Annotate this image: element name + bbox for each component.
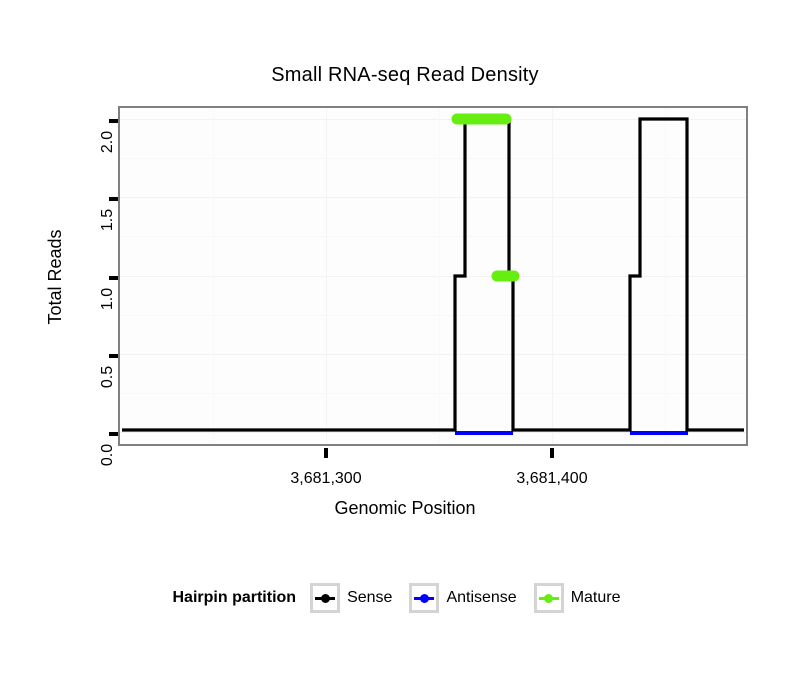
chart-title: Small RNA-seq Read Density [0,64,810,87]
plot-panel [118,106,748,446]
legend-point-icon [321,594,330,603]
x-tick-mark-3681300 [324,448,328,458]
legend-key-mature [534,583,564,613]
series-sense [122,119,744,430]
x-tick-mark-3681400 [550,448,554,458]
y-tick-label-0.5: 0.5 [99,357,117,397]
legend-key-antisense [409,583,439,613]
y-tick-label-1.5: 1.5 [99,200,117,240]
series-layer [120,108,746,444]
legend-entry-mature[interactable]: Mature [534,583,630,613]
y-tick-label-1.0: 1.0 [99,279,117,319]
y-tick-label-0.0: 0.0 [99,435,117,475]
legend-label-antisense: Antisense [446,589,516,607]
legend-point-icon [420,594,429,603]
x-tick-label-3681400: 3,681,400 [482,470,622,488]
x-axis-title: Genomic Position [0,498,810,519]
legend-label-sense: Sense [347,589,392,607]
legend-title: Hairpin partition [173,589,297,607]
legend-entry-antisense[interactable]: Antisense [409,583,525,613]
x-tick-label-3681300: 3,681,300 [256,470,396,488]
legend: Hairpin partition Sense Antisense Mature [0,578,810,618]
legend-entry-sense[interactable]: Sense [310,583,401,613]
legend-label-mature: Mature [571,589,621,607]
y-tick-label-2.0: 2.0 [99,122,117,162]
chart-root: Small RNA-seq Read Density Total Reads 2… [0,0,810,690]
y-axis-title: Total Reads [45,162,71,392]
panel-inner [120,108,746,444]
legend-key-sense [310,583,340,613]
legend-point-icon [544,594,553,603]
